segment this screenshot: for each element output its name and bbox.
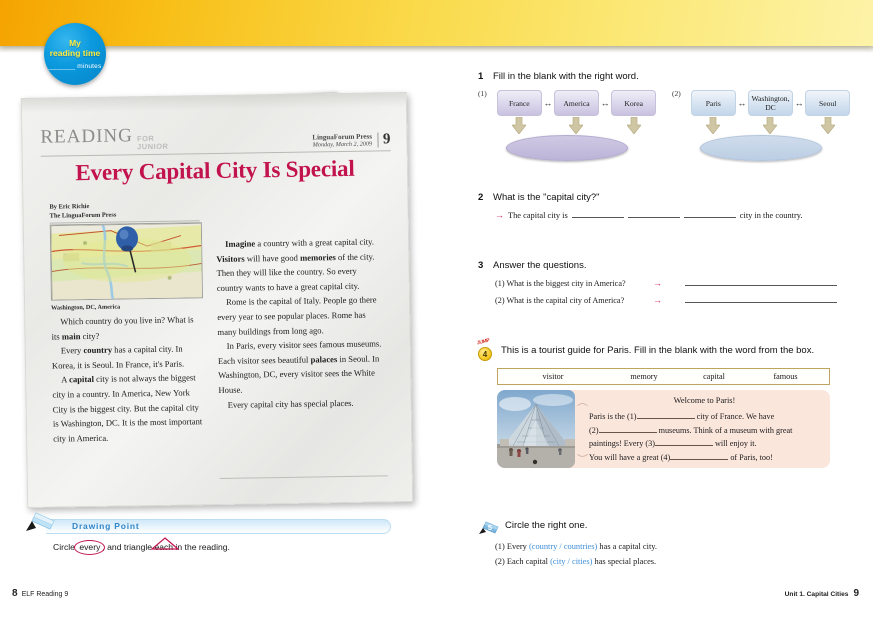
instruction-middle: , and triangle bbox=[102, 542, 154, 552]
word-bank-item[interactable]: capital bbox=[680, 372, 748, 381]
exercise-5-title: Circle the right one. bbox=[505, 520, 587, 531]
triangle-mark-icon bbox=[150, 537, 180, 551]
exercise-2: 2 What is the "capital city?" → The capi… bbox=[478, 192, 858, 220]
word-bank-box: visitor memory capital famous bbox=[497, 368, 830, 385]
down-arrow-icon bbox=[805, 117, 850, 134]
answer-blank[interactable] bbox=[628, 209, 680, 218]
marker-pen-icon: 5 bbox=[478, 520, 498, 536]
exercise-5-header: 5 Circle the right one. bbox=[478, 520, 858, 536]
exercise-1: 1 Fill in the blank with the right word.… bbox=[478, 71, 858, 161]
down-arrow-icon bbox=[497, 117, 542, 134]
answer-blank[interactable] bbox=[572, 209, 624, 218]
flow-box[interactable]: Washington, DC bbox=[748, 90, 793, 116]
photo-caption: Washington, DC, America bbox=[51, 302, 211, 312]
drawing-point-instruction: Circle every, and triangle each in the r… bbox=[53, 542, 391, 552]
svg-text:5: 5 bbox=[488, 523, 492, 532]
exercise-5-item: (1) Every (country / countries) has a ca… bbox=[495, 542, 858, 551]
guide-line-before: Paris is the (1) bbox=[589, 412, 637, 421]
masthead-left: READING FOR JUNIOR bbox=[40, 125, 168, 153]
flow-group-2-boxes: Paris ↔ Washington, DC ↔ Seoul bbox=[691, 90, 850, 116]
paper-fold bbox=[22, 93, 406, 113]
connector-icon: ↔ bbox=[736, 90, 749, 116]
choice-options[interactable]: (city / cities) bbox=[550, 557, 592, 566]
drawing-point-bar: Drawing Point bbox=[46, 519, 391, 534]
item-prefix: (2) Each capital bbox=[495, 557, 550, 566]
guide-line: paintings! Every (3) will enjoy it. bbox=[589, 437, 820, 451]
guide-blank[interactable] bbox=[599, 424, 657, 433]
triangled-word: each bbox=[154, 542, 173, 552]
article-paragraph: In Paris, every visitor sees famous muse… bbox=[218, 337, 387, 398]
footer-left: 8 ELF Reading 9 bbox=[12, 588, 68, 599]
flow-group-1-boxes: France ↔ America ↔ Korea bbox=[497, 90, 656, 116]
article-paragraph: Every country has a capital city. In Kor… bbox=[52, 341, 204, 373]
exercise-2-title: What is the "capital city?" bbox=[493, 192, 600, 203]
article-paragraph: Imagine a country with a great capital c… bbox=[216, 234, 385, 295]
badge-line1: My bbox=[69, 38, 81, 48]
guide-line: (2) museums. Think of a museum with grea… bbox=[589, 424, 820, 438]
exercise-3-item: (2) What is the capital city of America?… bbox=[495, 294, 858, 305]
word-bank-item[interactable]: visitor bbox=[498, 372, 608, 381]
exercise-3-item: (1) What is the biggest city in America?… bbox=[495, 277, 858, 288]
answer-prefix: The capital city is bbox=[508, 211, 568, 220]
instruction-suffix: in the reading. bbox=[173, 542, 230, 552]
jump-flag-label: JUMP bbox=[476, 338, 490, 347]
circled-word: every bbox=[77, 542, 102, 552]
flow-box[interactable]: Seoul bbox=[805, 90, 850, 116]
guide-line-after: city of France. We have bbox=[695, 412, 775, 421]
arrow-icon: → bbox=[653, 278, 685, 288]
footer-left-text: ELF Reading 9 bbox=[22, 591, 69, 598]
article-column-left: Which country do you live in? What is it… bbox=[51, 312, 205, 446]
guide-blank[interactable] bbox=[670, 451, 728, 460]
connector-icon: ↔ bbox=[542, 90, 555, 116]
answer-blank[interactable] bbox=[685, 277, 837, 286]
tourist-guide-card: ︵ ︶ Welcome to Paris! Paris is the (1) c… bbox=[497, 390, 830, 468]
guide-line-before: paintings! Every (3) bbox=[589, 439, 655, 448]
exercise-1-number: 1 bbox=[478, 71, 486, 82]
masthead-for-junior: FOR JUNIOR bbox=[137, 135, 169, 151]
article-column-right: Imagine a country with a great capital c… bbox=[216, 234, 387, 412]
word-bank-item[interactable]: memory bbox=[608, 372, 680, 381]
article-byline: By Eric Richie The LinguaForum Press bbox=[49, 200, 199, 223]
newspaper-article: READING FOR JUNIOR LinguaForum Press Mon… bbox=[21, 92, 413, 508]
flow-box[interactable]: Korea bbox=[611, 90, 656, 116]
down-arrow-icon bbox=[554, 117, 599, 134]
flow-group-1-arrows bbox=[497, 117, 656, 134]
article-paragraph: Rome is the capital of Italy. People go … bbox=[217, 293, 386, 339]
guide-line-after: museums. Think of a museum with great bbox=[657, 426, 793, 435]
flow-box[interactable]: America bbox=[554, 90, 599, 116]
masthead-page-number: 9 bbox=[377, 132, 391, 147]
guide-line: You will have a great (4) of Paris, too! bbox=[589, 451, 820, 465]
connector-icon: ↔ bbox=[793, 90, 806, 116]
curl-decoration-icon: ︶ bbox=[577, 451, 588, 467]
masthead-press-block: LinguaForum Press Monday, March 2, 2009 bbox=[312, 133, 372, 149]
question-text: (1) What is the biggest city in America? bbox=[495, 279, 653, 288]
exercise-4: JUMP 4 This is a tourist guide for Paris… bbox=[478, 345, 858, 468]
footer-right-text: Unit 1. Capital Cities bbox=[785, 591, 849, 598]
item-prefix: (1) Every bbox=[495, 542, 529, 551]
flow-box[interactable]: Paris bbox=[691, 90, 736, 116]
article-headline: Every Capital City Is Special bbox=[23, 155, 407, 187]
exercise-3-title: Answer the questions. bbox=[493, 260, 586, 271]
curl-decoration-icon: ︵ bbox=[577, 393, 588, 409]
drawing-point-label: Drawing Point bbox=[72, 521, 140, 531]
footer-right-page: 9 bbox=[853, 588, 859, 599]
down-arrow-icon bbox=[611, 117, 656, 134]
masthead-right: LinguaForum Press Monday, March 2, 2009 … bbox=[312, 132, 390, 148]
connector-icon: ↔ bbox=[599, 90, 612, 116]
masthead-date: Monday, March 2, 2009 bbox=[312, 141, 372, 149]
item-suffix: has special places. bbox=[592, 557, 656, 566]
article-paragraph: Which country do you live in? What is it… bbox=[51, 312, 203, 344]
guide-line: Paris is the (1) city of France. We have bbox=[589, 410, 820, 424]
answer-blank[interactable] bbox=[684, 209, 736, 218]
drawing-point-section: Drawing Point Circle every, and triangle… bbox=[46, 519, 391, 552]
top-banner bbox=[0, 0, 873, 46]
exercise-5: 5 Circle the right one. (1) Every (count… bbox=[478, 520, 858, 566]
flow-group-2-index: (2) bbox=[672, 89, 681, 98]
tourist-guide-text: ︵ ︶ Welcome to Paris! Paris is the (1) c… bbox=[575, 390, 830, 468]
answer-blank[interactable] bbox=[685, 294, 837, 303]
flow-group-1-index: (1) bbox=[478, 89, 487, 98]
guide-line-before: You will have a great (4) bbox=[589, 453, 670, 462]
guide-blank[interactable] bbox=[637, 410, 695, 419]
guide-line-after: of Paris, too! bbox=[728, 453, 773, 462]
exercise-3: 3 Answer the questions. (1) What is the … bbox=[478, 260, 858, 305]
guide-line-after: will enjoy it. bbox=[713, 439, 757, 448]
louvre-pyramid-photo bbox=[497, 390, 575, 468]
exercise-2-header: 2 What is the "capital city?" bbox=[478, 192, 858, 203]
exercise-5-item: (2) Each capital (city / cities) has spe… bbox=[495, 557, 858, 566]
answer-ellipse[interactable] bbox=[506, 135, 628, 161]
reading-time-minutes: _______ minutes bbox=[49, 63, 102, 70]
flow-group-1: (1) France ↔ America ↔ Korea bbox=[478, 90, 656, 161]
flow-group-2: (2) Paris ↔ Washington, DC ↔ Seoul bbox=[672, 90, 850, 161]
guide-heading: Welcome to Paris! bbox=[589, 396, 820, 405]
jump-badge-icon: JUMP 4 bbox=[478, 345, 494, 361]
exercise-2-answer-line: → The capital city is city in the countr… bbox=[495, 209, 858, 220]
newspaper-masthead: READING FOR JUNIOR LinguaForum Press Mon… bbox=[40, 121, 390, 156]
banner-shadow bbox=[0, 46, 873, 53]
down-arrow-icon bbox=[691, 117, 736, 134]
badge-line2: reading time bbox=[50, 48, 101, 58]
exercise-1-title: Fill in the blank with the right word. bbox=[493, 71, 639, 82]
reading-time-title: My reading time bbox=[50, 38, 101, 58]
choice-options[interactable]: (country / countries) bbox=[529, 542, 597, 551]
exercise-3-header: 3 Answer the questions. bbox=[478, 260, 858, 271]
footer-right: Unit 1. Capital Cities 9 bbox=[785, 588, 859, 599]
byline-source: The LinguaForum Press bbox=[50, 212, 117, 220]
item-suffix: has a capital city. bbox=[597, 542, 657, 551]
article-paragraph: Every capital city has special places. bbox=[219, 395, 387, 412]
question-text: (2) What is the capital city of America? bbox=[495, 296, 653, 305]
map-photo bbox=[50, 222, 203, 300]
flow-group-2-arrows bbox=[691, 117, 850, 134]
answer-ellipse[interactable] bbox=[700, 135, 822, 161]
flow-box[interactable]: France bbox=[497, 90, 542, 116]
exercise-3-number: 3 bbox=[478, 260, 486, 271]
exercise-2-number: 2 bbox=[478, 192, 486, 203]
article-divider bbox=[220, 475, 388, 479]
guide-blank[interactable] bbox=[655, 437, 713, 446]
answer-suffix: city in the country. bbox=[740, 211, 803, 220]
exercise-4-header: JUMP 4 This is a tourist guide for Paris… bbox=[478, 345, 858, 361]
page-root: My reading time _______ minutes CD-02 RE… bbox=[0, 0, 873, 618]
arrow-icon: → bbox=[495, 210, 504, 220]
flow-diagram: (1) France ↔ America ↔ Korea bbox=[478, 90, 858, 161]
arrow-icon: → bbox=[653, 295, 685, 305]
word-bank-item[interactable]: famous bbox=[748, 372, 823, 381]
reading-time-badge: My reading time _______ minutes bbox=[44, 23, 106, 85]
masthead-junior: JUNIOR bbox=[137, 142, 168, 151]
masthead-reading: READING bbox=[40, 125, 133, 148]
guide-line-before: (2) bbox=[589, 426, 599, 435]
byline-author: By Eric Richie bbox=[49, 203, 89, 211]
down-arrow-icon bbox=[748, 117, 793, 134]
footer-left-page: 8 bbox=[12, 588, 18, 599]
exercise-4-number: 4 bbox=[478, 347, 492, 361]
exercise-4-title: This is a tourist guide for Paris. Fill … bbox=[501, 345, 814, 356]
article-paragraph: A capital city is not always the biggest… bbox=[52, 371, 205, 446]
exercise-1-header: 1 Fill in the blank with the right word. bbox=[478, 71, 858, 82]
marker-pen-icon bbox=[24, 510, 58, 541]
